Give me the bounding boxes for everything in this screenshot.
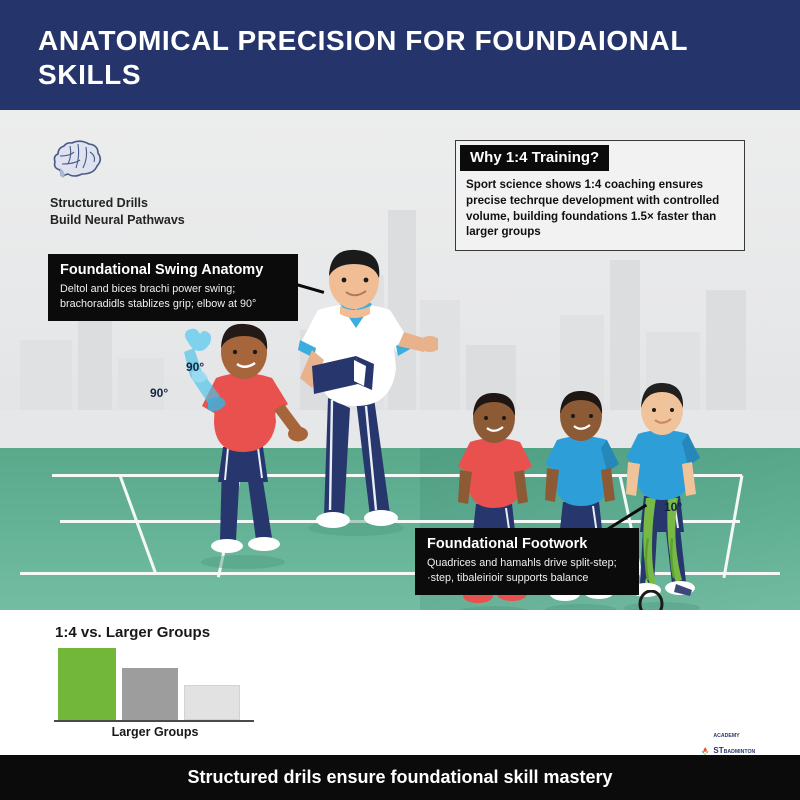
- bar-2: [184, 685, 240, 720]
- callout-swing-anatomy: Foundational Swing Anatomy Deltol and bi…: [48, 254, 298, 321]
- logo-line2: ST: [713, 746, 723, 755]
- neural-note-line1: Structured Drills: [50, 195, 260, 212]
- callout-footwork-title: Foundational Footwork: [427, 536, 627, 553]
- bar-0: [58, 648, 116, 720]
- comparison-bar-chart: [58, 648, 248, 720]
- angle-label-ankle: 10°: [664, 500, 682, 514]
- bar-1: [122, 668, 178, 720]
- neural-note: Structured Drills Build Neural Pathwavs: [50, 138, 260, 229]
- angle-label-arm-lower: 90°: [150, 386, 168, 400]
- angle-label-arm-upper: 90°: [186, 360, 204, 374]
- chart-title: 1:4 vs. Larger Groups: [55, 624, 210, 641]
- neural-note-line2: Build Neural Pathwavs: [50, 212, 260, 229]
- page-title: ANATOMICAL PRECISION FOR FOUNDAIONAL SKI…: [38, 24, 758, 92]
- callout-footwork-body: Quadrices and hamahls drive split-step; …: [427, 556, 627, 585]
- callout-swing-title: Foundational Swing Anatomy: [60, 262, 286, 279]
- callout-swing-body: Deltol and bices brachi power swing; bra…: [60, 282, 286, 311]
- racket-icon: [633, 590, 683, 610]
- footer-banner: Structured drils ensure foundational ski…: [0, 755, 800, 800]
- chart-x-label: Larger Groups: [55, 725, 255, 739]
- brain-icon: [50, 138, 106, 182]
- footer-text: Structured drils ensure foundational ski…: [0, 767, 800, 788]
- callout-footwork: Foundational Footwork Quadrices and hama…: [415, 528, 639, 595]
- bottom-panel: 1:4 vs. Larger Groups Larger Groups Tech…: [0, 610, 800, 755]
- why-training-heading: Why 1:4 Training?: [460, 145, 609, 171]
- infographic-poster: ANATOMICAL PRECISION FOR FOUNDAIONAL SKI…: [0, 0, 800, 800]
- why-training-body: Sport science shows 1:4 coaching ensures…: [456, 171, 744, 250]
- header-banner: ANATOMICAL PRECISION FOR FOUNDAIONAL SKI…: [0, 0, 800, 110]
- chart-baseline: [54, 720, 254, 722]
- why-training-box: Why 1:4 Training? Sport science shows 1:…: [455, 140, 745, 251]
